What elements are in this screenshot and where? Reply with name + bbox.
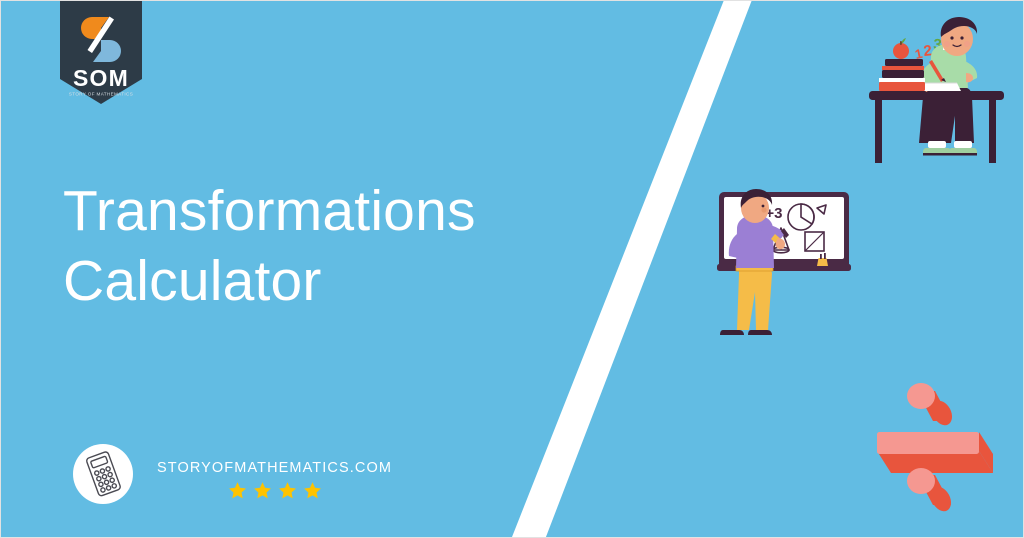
teacher-at-whiteboard-illustration: 1+3 xyxy=(705,184,863,356)
som-shield-logo: SOM STORY OF MATHEMATICS xyxy=(60,1,142,113)
teacher-shoe-left xyxy=(720,330,744,335)
promo-banner: SOM STORY OF MATHEMATICS Transformations… xyxy=(0,0,1024,538)
apple-icon xyxy=(893,43,909,59)
som-wordmark: SOM xyxy=(73,65,129,91)
star-icon xyxy=(253,481,272,500)
star-icon xyxy=(228,481,247,500)
divide-dot-top xyxy=(907,383,935,409)
calculator-icon xyxy=(73,444,133,504)
division-symbol-illustration xyxy=(873,375,1019,521)
book-top xyxy=(885,59,923,66)
teacher-shoe-right xyxy=(748,330,772,335)
calculator-badge xyxy=(73,444,133,504)
desk-surface xyxy=(869,91,1004,100)
star-icon xyxy=(303,481,322,500)
student-at-desk-illustration: 1 2 3 4 xyxy=(865,13,1021,179)
page-title-line-2: Calculator xyxy=(63,247,533,317)
som-tagline: STORY OF MATHEMATICS xyxy=(69,92,133,97)
book-middle xyxy=(882,70,924,78)
star-icon xyxy=(278,481,297,500)
book-bottom xyxy=(879,82,925,91)
page-title-line-1: Transformations xyxy=(63,177,533,247)
rating-stars xyxy=(228,481,322,500)
teacher-pants xyxy=(737,270,772,330)
divide-dot-bottom xyxy=(907,468,935,494)
notebook xyxy=(919,83,961,91)
brand-text-group: STORYOFMATHEMATICS.COM xyxy=(157,444,392,500)
divide-bar-shadow xyxy=(877,451,993,473)
brand-bar: STORYOFMATHEMATICS.COM xyxy=(73,444,392,504)
divide-bar xyxy=(877,432,979,454)
site-url[interactable]: STORYOFMATHEMATICS.COM xyxy=(157,460,392,476)
page-title: Transformations Calculator xyxy=(63,177,533,316)
